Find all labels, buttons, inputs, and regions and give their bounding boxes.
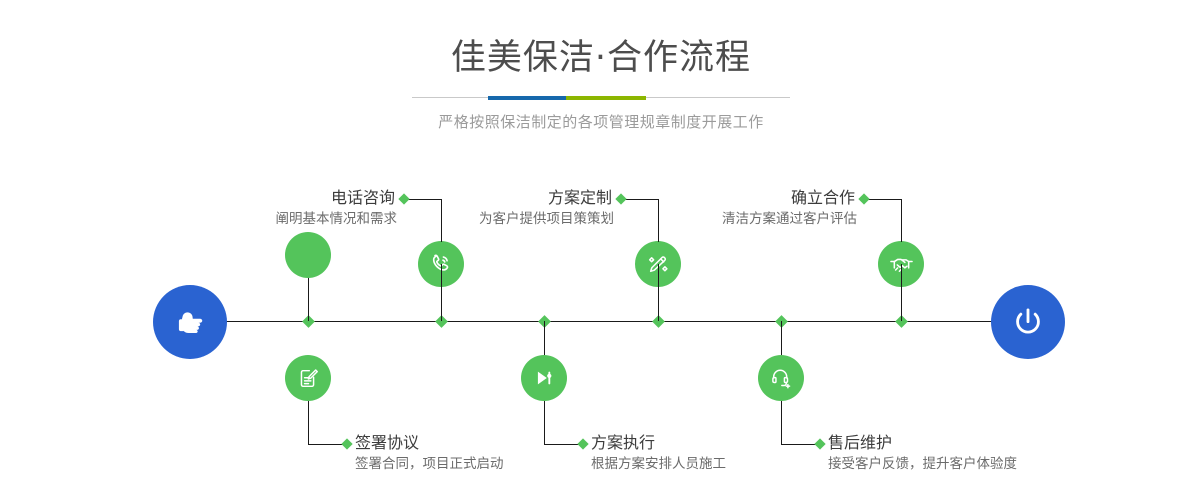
play-execute-icon <box>531 365 557 391</box>
stem-step-5 <box>901 264 902 321</box>
elbow-h-step-4 <box>544 444 582 445</box>
step-icon-step-2[interactable] <box>285 355 331 401</box>
elbow-v-step-1 <box>441 199 442 242</box>
step-icon-step-4[interactable] <box>521 355 567 401</box>
label-desc-step-5: 清洁方案通过客户评估 <box>722 209 857 230</box>
stem-step-4 <box>544 321 545 355</box>
label-desc-step-2: 签署合同，项目正式启动 <box>355 454 504 475</box>
label-step-4: 方案执行 根据方案安排人员施工 <box>591 432 726 475</box>
label-step-5: 确立合作 清洁方案通过客户评估 <box>722 187 857 230</box>
stem-step-1c <box>441 264 442 321</box>
label-tip-step-6 <box>814 438 825 449</box>
step-icon-step-1[interactable] <box>285 232 331 278</box>
label-title-step-6: 售后维护 <box>828 432 1017 454</box>
elbow-h-step-6 <box>781 444 819 445</box>
stem-step-3 <box>658 264 659 321</box>
page-subtitle: 严格按照保洁制定的各项管理规章制度开展工作 <box>0 112 1202 132</box>
label-step-2: 签署协议 签署合同，项目正式启动 <box>355 432 504 475</box>
elbow-v-step-3 <box>658 199 659 242</box>
label-title-step-1: 电话咨询 <box>276 187 398 209</box>
label-step-6: 售后维护 接受客户反馈，提升客户体验度 <box>828 432 1017 475</box>
label-tip-step-4 <box>577 438 588 449</box>
page-title: 佳美保洁·合作流程 <box>0 36 1202 80</box>
pointing-hand-icon <box>171 303 209 341</box>
elbow-v-step-2 <box>308 401 309 444</box>
title-divider <box>412 97 790 98</box>
headset-support-icon <box>768 365 794 391</box>
process-flow-infographic: 佳美保洁·合作流程 严格按照保洁制定的各项管理规章制度开展工作 <box>0 0 1202 502</box>
label-desc-step-4: 根据方案安排人员施工 <box>591 454 726 475</box>
elbow-h-step-5 <box>864 199 902 200</box>
header: 佳美保洁·合作流程 严格按照保洁制定的各项管理规章制度开展工作 <box>0 36 1202 132</box>
label-desc-step-3: 为客户提供项目策策划 <box>479 209 614 230</box>
elbow-v-step-4 <box>544 401 545 444</box>
stem-step-6 <box>781 321 782 355</box>
label-title-step-4: 方案执行 <box>591 432 726 454</box>
power-icon <box>1008 302 1048 342</box>
label-title-step-3: 方案定制 <box>479 187 614 209</box>
label-step-3: 方案定制 为客户提供项目策策划 <box>479 187 614 230</box>
label-tip-step-5 <box>858 193 869 204</box>
elbow-v-step-6 <box>781 401 782 444</box>
label-tip-step-2 <box>341 438 352 449</box>
timeline-start-node[interactable] <box>153 285 227 359</box>
label-tip-step-3 <box>615 193 626 204</box>
divider-segment-blue <box>488 96 566 100</box>
label-title-step-5: 确立合作 <box>722 187 857 209</box>
document-edit-icon <box>296 366 321 391</box>
label-tip-step-1 <box>398 193 409 204</box>
label-desc-step-1: 阐明基本情况和需求 <box>276 209 398 230</box>
label-title-step-2: 签署协议 <box>355 432 504 454</box>
elbow-v-step-5 <box>901 199 902 242</box>
step-icon-step-6[interactable] <box>758 355 804 401</box>
label-step-1: 电话咨询 阐明基本情况和需求 <box>276 187 398 230</box>
label-desc-step-6: 接受客户反馈，提升客户体验度 <box>828 454 1017 475</box>
timeline-axis <box>154 321 1048 322</box>
timeline-end-node[interactable] <box>991 285 1065 359</box>
divider-segment-green <box>566 96 646 100</box>
elbow-h-step-1 <box>404 199 442 200</box>
elbow-h-step-2 <box>308 444 346 445</box>
elbow-h-step-3 <box>621 199 659 200</box>
